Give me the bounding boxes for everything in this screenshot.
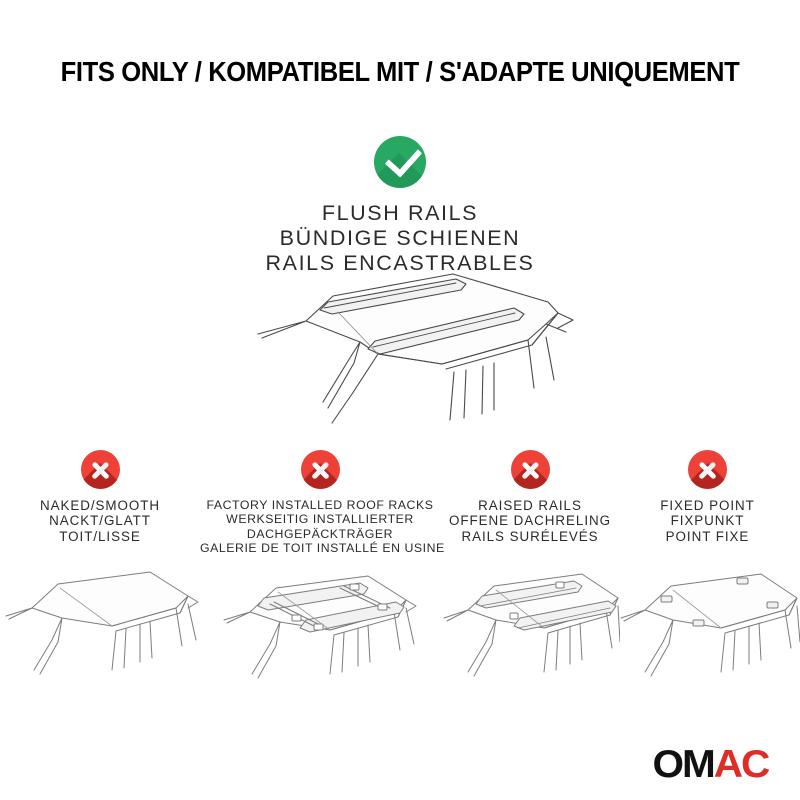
red-cross-icon [301, 450, 340, 489]
option-label-de-2: DACHGEPÄCKTRÄGER [200, 527, 440, 541]
compatibility-infographic: FITS ONLY / KOMPATIBEL MIT / S'ADAPTE UN… [0, 0, 800, 800]
green-check-icon [374, 136, 426, 188]
option-label-de: FIXPUNKT [615, 513, 800, 528]
car-roof-factory-roof-racks-illustration [200, 558, 440, 698]
red-cross-icon [81, 450, 120, 489]
car-roof-naked-smooth-illustration [0, 558, 200, 698]
option-label-fr: POINT FIXE [615, 529, 800, 544]
option-label-en: NAKED/SMOOTH [0, 498, 200, 513]
option-label-de: OFFENE DACHRELING [440, 513, 620, 528]
omac-logo: OMAC [652, 745, 768, 784]
option-fixed-point: FIXED POINT FIXPUNKT POINT FIXE [615, 450, 800, 544]
option-label-fr: RAILS SURÉLEVÉS [440, 529, 620, 544]
compatible-labels: FLUSH RAILS BÜNDIGE SCHIENEN RAILS ENCAS… [0, 201, 800, 276]
car-roof-raised-rails-illustration [440, 558, 620, 698]
option-label-de: NACKT/GLATT [0, 513, 200, 528]
option-factory-roof-racks: FACTORY INSTALLED ROOF RACKS WERKSEITIG … [200, 450, 440, 555]
option-labels: FIXED POINT FIXPUNKT POINT FIXE [615, 498, 800, 544]
logo-text-dark: OM [652, 743, 713, 786]
car-roof-flush-rails-illustration [228, 268, 578, 428]
red-cross-icon [688, 450, 727, 489]
option-labels: FACTORY INSTALLED ROOF RACKS WERKSEITIG … [200, 498, 440, 555]
incompatible-section: NAKED/SMOOTH NACKT/GLATT TOIT/LISSE [0, 450, 800, 700]
option-label-en: FACTORY INSTALLED ROOF RACKS [200, 498, 440, 512]
option-labels: RAISED RAILS OFFENE DACHRELING RAILS SUR… [440, 498, 620, 544]
option-naked-smooth: NAKED/SMOOTH NACKT/GLATT TOIT/LISSE [0, 450, 200, 544]
car-roof-fixed-point-illustration [615, 558, 800, 698]
option-label-de-1: WERKSEITIG INSTALLIERTER [200, 512, 440, 526]
compatible-label-de: BÜNDIGE SCHIENEN [0, 226, 800, 251]
compatible-label-en: FLUSH RAILS [0, 201, 800, 226]
option-label-fr: GALERIE DE TOIT INSTALLÉ EN USINE [200, 541, 440, 555]
option-label-en: FIXED POINT [615, 498, 800, 513]
page-title: FITS ONLY / KOMPATIBEL MIT / S'ADAPTE UN… [28, 56, 772, 88]
option-label-en: RAISED RAILS [440, 498, 620, 513]
option-raised-rails: RAISED RAILS OFFENE DACHRELING RAILS SUR… [440, 450, 620, 544]
option-labels: NAKED/SMOOTH NACKT/GLATT TOIT/LISSE [0, 498, 200, 544]
red-cross-icon [511, 450, 550, 489]
compatible-section: FLUSH RAILS BÜNDIGE SCHIENEN RAILS ENCAS… [0, 136, 800, 276]
option-label-fr: TOIT/LISSE [0, 529, 200, 544]
logo-text-red: AC [714, 743, 768, 786]
